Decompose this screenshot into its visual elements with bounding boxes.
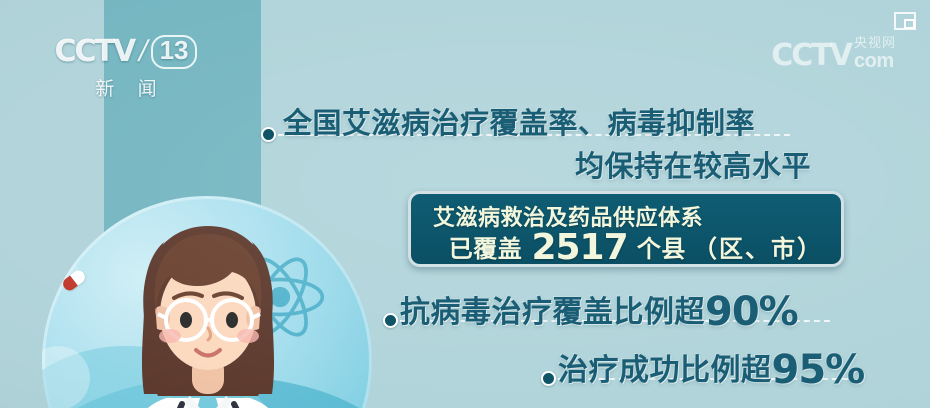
- stat-2-label: 治疗成功比例超: [558, 354, 772, 387]
- bullet-headline-1: [261, 127, 276, 142]
- callout-prefix: 已覆盖: [449, 236, 523, 263]
- picture-in-picture-icon[interactable]: [894, 12, 916, 30]
- stat-line-2: 治疗成功比例超95%: [558, 345, 864, 393]
- bullet-stat-2: [541, 371, 556, 386]
- headline-line-1: 全国艾滋病治疗覆盖率、病毒抑制率: [283, 100, 755, 142]
- stat-1-value: 90%: [705, 289, 798, 335]
- stat-line-1: 抗病毒治疗覆盖比例超90%: [400, 287, 798, 335]
- broadcast-screen: CCTV / 13 新 闻 CCTV 央视网 com 全国艾滋病治疗覆盖率、病毒…: [0, 0, 930, 408]
- cctv-wordmark: CCTV: [55, 37, 135, 67]
- channel-logo: CCTV / 13 新 闻: [46, 35, 206, 101]
- female-doctor-illustration: [42, 196, 372, 408]
- cctv-com-watermark: CCTV 央视网 com: [771, 36, 896, 71]
- watermark-stack: 央视网 com: [854, 36, 896, 71]
- bullet-stat-1: [383, 313, 398, 328]
- callout-box: 艾滋病救治及药品供应体系 已覆盖 2517 个县 （区、市）: [408, 191, 844, 267]
- watermark-com-text: com: [854, 51, 894, 71]
- callout-number: 2517: [529, 227, 629, 268]
- headline-line-2: 均保持在较高水平: [575, 143, 811, 185]
- doctor-figure: [108, 220, 308, 408]
- watermark-cn-text: 央视网: [854, 36, 896, 49]
- channel-logo-row: CCTV / 13: [46, 35, 206, 69]
- callout-paren: （区、市）: [693, 236, 823, 263]
- watermark-cctv-text: CCTV: [771, 41, 851, 71]
- stat-1-label: 抗病毒治疗覆盖比例超: [400, 296, 705, 329]
- channel-name: 新 闻: [46, 74, 206, 101]
- callout-line-2: 已覆盖 2517 个县 （区、市）: [449, 227, 823, 268]
- logo-slash: /: [136, 35, 152, 69]
- stat-2-value: 95%: [772, 347, 865, 393]
- illustration-disc: [42, 196, 372, 408]
- channel-number: 13: [151, 35, 198, 68]
- callout-unit: 个县: [637, 236, 686, 263]
